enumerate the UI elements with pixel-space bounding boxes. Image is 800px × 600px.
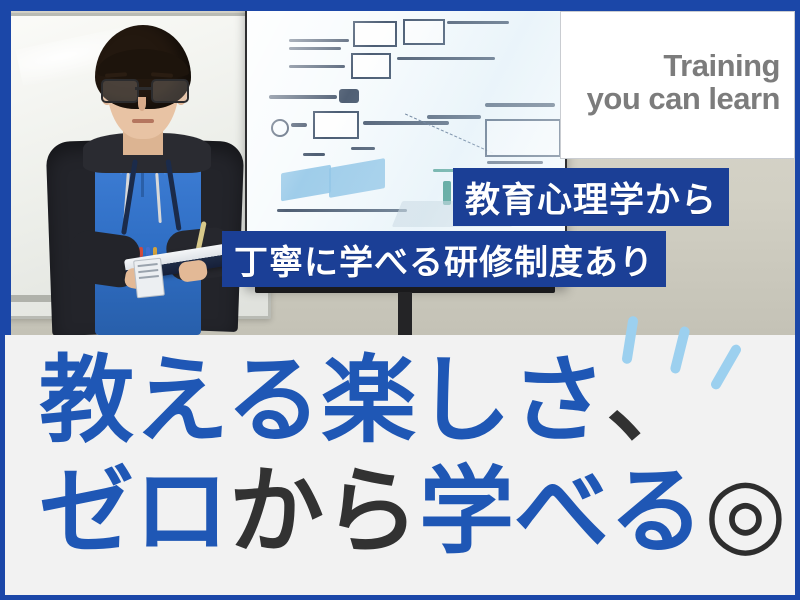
headline-line-2: ゼロから学べる◎: [39, 464, 779, 561]
training-line-1: Training: [561, 49, 780, 82]
slide-stroke: [363, 121, 449, 125]
training-line-2: you can learn: [561, 82, 780, 115]
slide-prism-b: [329, 158, 385, 198]
headline-line-1: 教える楽しさ、: [39, 353, 779, 450]
training-callout-panel: Training you can learn: [560, 11, 795, 159]
headline: 教える楽しさ、 ゼロから学べる◎: [39, 353, 779, 561]
slide-sun-ray: [405, 114, 493, 154]
slide-stroke: [289, 65, 345, 68]
slide-sunlight-label: [427, 115, 481, 119]
slide-note-stroke: [485, 103, 555, 107]
slide-bullet-1: [271, 119, 289, 137]
slide-prism-a: [281, 165, 331, 202]
headline-seg: 教える楽しさ: [39, 346, 606, 456]
glasses-icon: [101, 79, 187, 99]
slide-answer-box: [485, 119, 561, 157]
headline-seg: から: [229, 457, 419, 567]
slide-answer-box: [351, 53, 391, 79]
slide-label-stroke: [351, 147, 375, 150]
glasses-lens-left: [101, 79, 139, 103]
slide-caption-stroke: [277, 209, 407, 212]
slide-label-stroke: [303, 153, 325, 156]
headline-seg: 、: [606, 346, 701, 456]
advertisement-banner: Training you can learn 教育心理学から 丁寧に学べる研修制…: [0, 0, 800, 600]
nose: [138, 97, 146, 111]
slide-stroke: [291, 123, 307, 127]
slide-stroke: [289, 39, 349, 42]
glasses-lens-right: [151, 79, 189, 103]
headline-seg: ゼロ: [39, 457, 229, 567]
banner-line-1: 教育心理学から: [453, 168, 729, 226]
slide-note-stroke: [487, 161, 543, 164]
banner-line-2: 丁寧に学べる研修制度あり: [222, 231, 666, 287]
mouth: [132, 119, 154, 123]
slide-answer-box: [313, 111, 359, 139]
slide-stroke: [289, 47, 341, 50]
slide-answer-box: [403, 19, 445, 45]
slide-number-3: [339, 89, 359, 103]
id-badge: [133, 258, 165, 299]
slide-answer-box: [353, 21, 397, 47]
slide-heading-stroke: [269, 95, 337, 99]
glasses-bridge: [135, 87, 151, 90]
headline-seg: 学べる: [419, 457, 704, 567]
slide-stroke: [397, 57, 495, 60]
instructor-figure: [39, 23, 235, 335]
headline-circle-mark: ◎: [704, 457, 787, 567]
screen-leg: [398, 292, 412, 335]
slide-stroke: [447, 21, 509, 24]
